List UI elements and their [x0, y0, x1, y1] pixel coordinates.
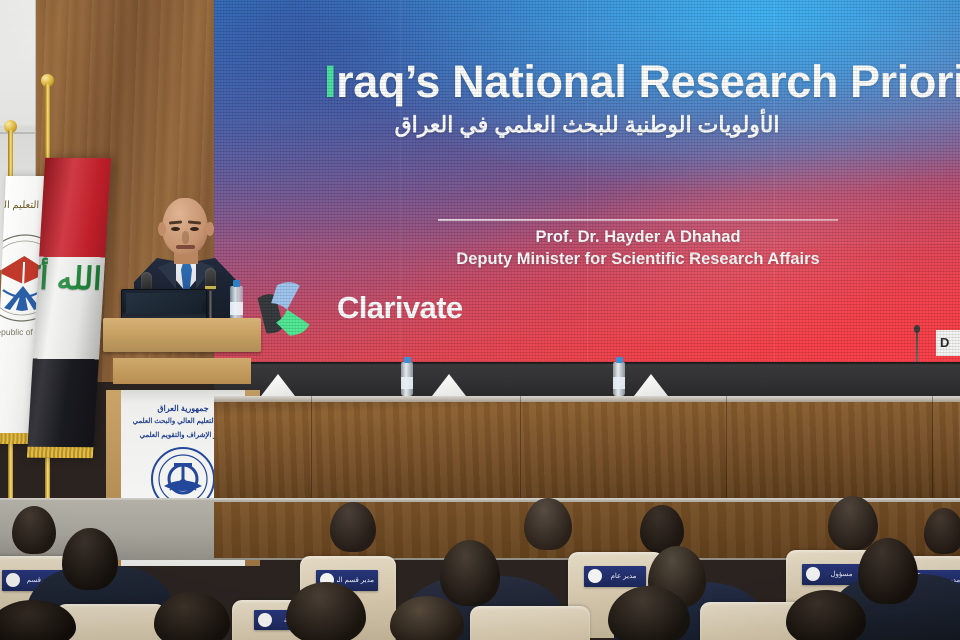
clarivate-logo: Clarivate: [257, 272, 497, 344]
speaker-ear-right: [206, 222, 214, 236]
placard-badge-icon: [806, 567, 820, 581]
screen-edge-card: D: [936, 330, 960, 356]
head-table-divider: [726, 396, 727, 502]
audience-head: [12, 506, 56, 554]
led-panel-seam: [587, 0, 588, 362]
audience-chair: [470, 606, 590, 640]
bottle-label: [230, 302, 243, 315]
laptop-screen: [126, 293, 202, 314]
head-table-divider: [520, 396, 521, 502]
conference-hall-photo: Iraq’s National Research Priorities الأو…: [0, 0, 960, 640]
clarivate-mark-icon: [257, 272, 329, 344]
slide-divider-rule: [438, 219, 838, 221]
chair-placard: مدير عام: [584, 566, 646, 587]
audience-head: [62, 528, 118, 590]
slide-speaker-name: Prof. Dr. Hayder A Dhahad: [438, 228, 838, 247]
head-table-divider: [311, 396, 312, 502]
screen-pointer-stick: [916, 330, 918, 362]
placard-badge-icon: [6, 573, 20, 587]
head-table-divider: [932, 396, 933, 502]
placard-badge-icon: [258, 613, 272, 627]
slide-title-rest: raq’s National Research Priorities: [336, 56, 960, 107]
speaker-eye-right: [190, 227, 199, 231]
bottle-label: [401, 377, 413, 389]
flag-fringe: [27, 447, 94, 459]
audience-head: [828, 496, 878, 550]
table-water-bottle: [401, 362, 413, 396]
bottle-cap: [233, 280, 240, 287]
podium-laptop: [121, 289, 207, 321]
led-presentation-screen: Iraq’s National Research Priorities الأو…: [214, 0, 960, 362]
audience-head: [330, 502, 376, 552]
speaker-ear-left: [158, 222, 166, 236]
led-panel-seam: [214, 121, 960, 122]
audience-head: [924, 508, 960, 554]
led-panel-seam: [400, 0, 401, 362]
audience-head: [524, 498, 572, 550]
dark-wall-band: [214, 362, 960, 398]
placard-badge-icon: [588, 569, 602, 583]
slide-title-accent-letter: I: [324, 56, 336, 107]
slide-title: Iraq’s National Research Priorities: [324, 56, 960, 108]
bottle-cap: [404, 357, 411, 363]
head-table: [214, 396, 960, 502]
placard-text: مسؤول: [823, 568, 860, 581]
podium-band: [113, 358, 251, 384]
speaker-nose: [182, 231, 189, 244]
podium-top-surface: [103, 318, 261, 352]
bottle-cap: [616, 357, 623, 363]
speaker-eye-left: [171, 227, 180, 231]
led-panel-seam: [774, 0, 775, 362]
slide-speaker-role: Deputy Minister for Scientific Research …: [438, 250, 838, 269]
placard-text: مدير عام: [605, 570, 642, 583]
head-table-ledge: [214, 396, 960, 402]
speaker-mouth: [176, 245, 195, 249]
bottle-label: [613, 377, 625, 389]
led-panel-seam: [214, 242, 960, 243]
table-water-bottle: [613, 362, 625, 396]
